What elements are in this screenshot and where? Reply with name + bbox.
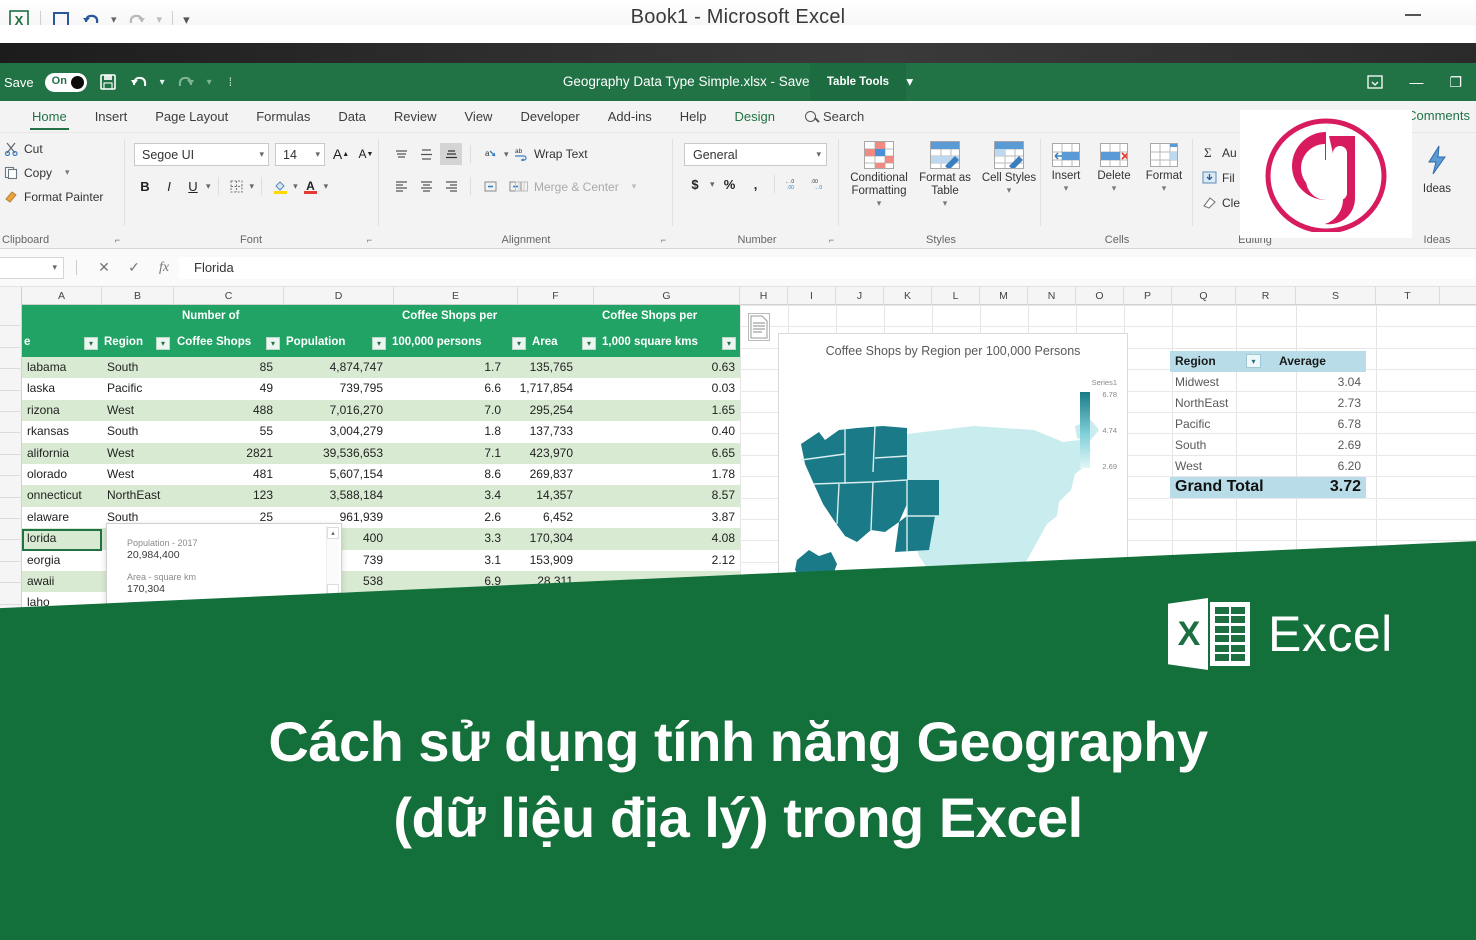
column-header-S[interactable]: S (1296, 287, 1376, 305)
table-cell-population[interactable]: 3,004,279 (278, 421, 388, 442)
table-cell-per1000km[interactable]: 1.78 (578, 464, 740, 485)
cancel-icon[interactable]: ✕ (89, 259, 119, 276)
table-cell-area[interactable]: 170,304 (506, 528, 578, 549)
table-cell-per1000km[interactable]: 6.65 (578, 443, 740, 464)
merge-center-button[interactable]: Merge & Center ▾ (514, 179, 636, 194)
table-cell-shops[interactable]: 123 (174, 485, 278, 506)
svg-text:A: A (306, 179, 315, 193)
tab-insert[interactable]: Insert (81, 105, 142, 128)
font-name-dropdown-icon[interactable]: ▾ (259, 149, 264, 160)
table-cell-state[interactable]: elaware (22, 507, 102, 528)
filter-icon-coffee-shops[interactable]: ▾ (266, 337, 280, 350)
table-cell-per100k[interactable]: 7.0 (388, 400, 506, 421)
format-painter-icon (4, 189, 19, 204)
ideas-label: Ideas (1423, 183, 1451, 196)
number-group-label: Number (676, 234, 838, 246)
fill-color-dropdown-icon[interactable]: ▾ (293, 181, 298, 192)
align-right-icon[interactable] (440, 175, 462, 197)
tab-help[interactable]: Help (666, 105, 721, 128)
pivot-row-label[interactable]: West (1170, 456, 1274, 477)
autosave-state: On (52, 75, 67, 87)
pivot-header-average: Average (1274, 351, 1366, 372)
wrap-text-button[interactable]: ab Wrap Text (514, 146, 588, 161)
excel-logo-icon: X (1168, 592, 1252, 676)
table-cell-state[interactable]: olorado (22, 464, 102, 485)
number-format-value: General (693, 148, 737, 162)
column-header-R[interactable]: R (1236, 287, 1296, 305)
conditional-formatting-icon (864, 141, 894, 169)
column-header-E[interactable]: E (394, 287, 518, 305)
gj-logo-icon (1251, 116, 1401, 232)
autosave-toggle[interactable]: On (45, 73, 87, 92)
align-left-icon[interactable] (390, 175, 412, 197)
document-name[interactable]: Geography Data Type Simple.xlsx (563, 74, 767, 89)
underline-dropdown-icon[interactable]: ▾ (206, 181, 211, 192)
table-header-row-2: e ▾ Region ▾ Coffee Shops ▾ Population ▾… (22, 331, 740, 357)
tab-page-layout[interactable]: Page Layout (141, 105, 242, 128)
copy-label: Copy (24, 166, 52, 180)
format-as-table-dropdown-icon[interactable]: ▾ (943, 198, 948, 209)
table-cell-per100k[interactable]: 3.3 (388, 528, 506, 549)
table-cell-shops[interactable]: 481 (174, 464, 278, 485)
card-label-population: Population - 2017 (127, 538, 341, 548)
column-header-F[interactable]: F (518, 287, 594, 305)
table-cell-area[interactable]: 269,837 (506, 464, 578, 485)
table-cell-region[interactable]: West (102, 443, 174, 464)
column-header-D[interactable]: D (284, 287, 394, 305)
number-format-select[interactable]: General ▾ (684, 143, 827, 166)
number-dialog-launcher[interactable]: ⌐ (829, 235, 834, 245)
orientation-dropdown-icon[interactable]: ▾ (504, 149, 509, 160)
table-cell-region[interactable]: Pacific (102, 378, 174, 399)
pivot-row-label[interactable]: South (1170, 435, 1274, 456)
table-cell-per100k[interactable]: 2.6 (388, 507, 506, 528)
clipboard-dialog-launcher[interactable]: ⌐ (115, 235, 120, 245)
font-color-dropdown-icon[interactable]: ▾ (324, 181, 329, 192)
filter-icon-area[interactable]: ▾ (582, 337, 596, 350)
borders-icon[interactable] (226, 175, 248, 197)
tab-add-ins[interactable]: Add-ins (594, 105, 666, 128)
clear-label: Cle (1222, 196, 1240, 210)
name-box[interactable]: ▾ (0, 257, 64, 279)
name-box-dropdown-icon[interactable]: ▾ (46, 262, 57, 273)
row-header[interactable] (0, 305, 22, 326)
chart-title: Coffee Shops by Region per 100,000 Perso… (779, 344, 1127, 358)
tab-formulas[interactable]: Formulas (242, 105, 324, 128)
copy-icon (4, 165, 19, 180)
pivot-row-label[interactable]: Midwest (1170, 372, 1274, 393)
align-top-icon[interactable] (390, 143, 412, 165)
delete-cells-button[interactable]: Delete ▾ (1090, 143, 1138, 194)
pivot-table-region-average[interactable]: Region ▾ Average Midwest3.04NorthEast2.7… (1170, 351, 1366, 501)
table-cell-per1000km[interactable]: 1.65 (578, 400, 740, 421)
format-cells-icon (1150, 143, 1178, 167)
table-cell-population[interactable]: 739,795 (278, 378, 388, 399)
clipboard-group-label: Clipboard (0, 234, 124, 246)
ideas-button[interactable]: Ideas (1404, 145, 1470, 196)
pivot-grand-total-label: Grand Total (1170, 477, 1274, 498)
table-cell-state[interactable]: eorgia (22, 550, 102, 571)
font-dialog-launcher[interactable]: ⌐ (367, 235, 372, 245)
table-header-number-of: Number of (182, 310, 240, 322)
merge-center-dropdown-icon[interactable]: ▾ (624, 181, 637, 192)
table-cell-region[interactable]: South (102, 421, 174, 442)
format-cells-dropdown-icon[interactable]: ▾ (1162, 183, 1167, 194)
save-status-dropdown-icon[interactable]: ▾ (906, 74, 913, 89)
table-cell-population[interactable]: 7,016,270 (278, 400, 388, 421)
column-header-O[interactable]: O (1076, 287, 1124, 305)
scissors-icon (4, 141, 19, 156)
ribbon-display-options-icon[interactable] (1367, 75, 1383, 89)
row-header[interactable] (0, 562, 22, 583)
cell-styles-dropdown-icon[interactable]: ▾ (1007, 185, 1012, 196)
table-cell-per1000km[interactable]: 0.63 (578, 357, 740, 378)
ribbon-group-cells: Insert ▾ Delete ▾ (1042, 133, 1192, 249)
decrease-indent-icon[interactable] (479, 175, 501, 197)
banner-line-1: Cách sử dụng tính năng Geography (0, 712, 1476, 772)
table-cell-shops[interactable]: 488 (174, 400, 278, 421)
save-icon[interactable] (98, 72, 118, 92)
bold-icon[interactable]: B (134, 175, 156, 197)
pivot-row-label[interactable]: Pacific (1170, 414, 1274, 435)
row-header[interactable] (0, 326, 22, 347)
undo-dropdown-icon[interactable]: ▾ (160, 77, 165, 88)
table-header-coffee-shops-per-2: Coffee Shops per (602, 310, 697, 322)
filter-icon-population[interactable]: ▾ (372, 337, 386, 350)
cells-group-label: Cells (1042, 234, 1192, 246)
autosum-label: Au (1222, 146, 1237, 160)
number-format-dropdown-icon[interactable]: ▾ (816, 149, 821, 160)
excel-logo-x: X (1178, 615, 1201, 654)
ribbon-group-clipboard: Cut Copy ▾ (0, 133, 124, 249)
column-header-Q[interactable]: Q (1172, 287, 1236, 305)
orientation-icon[interactable]: a (479, 143, 501, 165)
delete-cells-label: Delete (1097, 170, 1130, 183)
column-headers: A B C D E F G H I J K L M N O P Q R S T (0, 287, 1476, 305)
row-header[interactable] (0, 540, 22, 561)
undo-icon[interactable] (129, 73, 149, 91)
table-cell-shops[interactable]: 85 (174, 357, 278, 378)
table-cell-per1000km[interactable]: 4.08 (578, 528, 740, 549)
row-header[interactable] (0, 348, 22, 369)
table-cell-region[interactable]: West (102, 464, 174, 485)
align-center-icon[interactable] (415, 175, 437, 197)
table-cell-shops[interactable]: 55 (174, 421, 278, 442)
confirm-icon[interactable]: ✓ (119, 259, 149, 276)
table-cell-region[interactable]: West (102, 400, 174, 421)
table-header-population: Population (286, 336, 345, 348)
font-color-icon[interactable]: A (300, 175, 322, 197)
table-cell-per100k[interactable]: 3.1 (388, 550, 506, 571)
table-cell-area[interactable]: 137,733 (506, 421, 578, 442)
font-size-value: 14 (283, 148, 297, 162)
ideas-lightning-icon (1423, 145, 1451, 180)
table-cell-area[interactable]: 423,970 (506, 443, 578, 464)
insert-function-icon[interactable]: fx (149, 260, 179, 276)
fill-color-icon[interactable] (269, 175, 291, 197)
minimize-icon[interactable]: — (1409, 75, 1423, 89)
table-cell-area[interactable]: 14,357 (506, 485, 578, 506)
column-header-L[interactable]: L (932, 287, 980, 305)
toggle-knob (71, 76, 84, 89)
column-header-K[interactable]: K (884, 287, 932, 305)
table-cell-region[interactable]: NorthEast (102, 485, 174, 506)
table-cell-state[interactable]: laska (22, 378, 102, 399)
row-header[interactable] (0, 583, 22, 604)
title-separator: - (770, 74, 778, 89)
customize-qat-icon[interactable]: ⁞ (223, 75, 232, 89)
table-cell-state[interactable]: awaii (22, 571, 102, 592)
column-header-N[interactable]: N (1028, 287, 1076, 305)
column-header-I[interactable]: I (788, 287, 836, 305)
column-header-M[interactable]: M (980, 287, 1028, 305)
card-field-area: Area - square km 170,304 (127, 572, 341, 595)
svg-text:ab: ab (515, 148, 523, 155)
clear-button[interactable]: Cle (1202, 195, 1240, 210)
tab-home[interactable]: Home (18, 105, 81, 128)
table-cell-area[interactable]: 6,452 (506, 507, 578, 528)
card-value-population: 20,984,400 (127, 549, 341, 561)
column-header-B[interactable]: B (102, 287, 174, 305)
pivot-row-value[interactable]: 2.69 (1274, 435, 1366, 456)
table-cell-per1000km[interactable]: 8.57 (578, 485, 740, 506)
align-middle-icon[interactable] (415, 143, 437, 165)
copy-button[interactable]: Copy ▾ (4, 165, 103, 180)
delete-cells-dropdown-icon[interactable]: ▾ (1112, 183, 1117, 194)
column-header-G[interactable]: G (594, 287, 740, 305)
merge-center-label: Merge & Center (534, 180, 619, 194)
excel-logo-left-panel: X (1168, 598, 1208, 670)
cell-styles-label: Cell Styles (982, 172, 1036, 185)
tab-design[interactable]: Design (721, 105, 789, 128)
row-header[interactable] (0, 476, 22, 497)
quick-access-toolbar: Save On ▾ ▾ (0, 72, 232, 92)
ribbon-group-number: General ▾ $ ▾ % , ←.0.00 .00→.0 Numb (676, 133, 838, 249)
table-cell-population[interactable]: 5,607,154 (278, 464, 388, 485)
legend-tick-mid: 4.74 (1102, 426, 1117, 435)
table-cell-state[interactable]: rizona (22, 400, 102, 421)
column-header-A[interactable]: A (22, 287, 102, 305)
table-cell-per100k[interactable]: 1.8 (388, 421, 506, 442)
table-header-row-1: Number of Coffee Shops per Coffee Shops … (22, 305, 740, 331)
filter-icon-per-100k[interactable]: ▾ (512, 337, 526, 350)
row-header[interactable] (0, 369, 22, 390)
scroll-up-icon[interactable]: ▴ (327, 527, 339, 539)
excel-brand-lockup: X Excel (1168, 592, 1393, 676)
window-shadow-strip (0, 43, 1476, 65)
fill-button[interactable]: Fil (1202, 170, 1240, 185)
underline-icon[interactable]: U (182, 175, 204, 197)
table-header-per-100k: 100,000 persons (392, 336, 482, 348)
excel-titlebar: Save On ▾ ▾ (0, 63, 1476, 101)
insert-cells-label: Insert (1052, 170, 1081, 183)
search-box[interactable]: Search (789, 109, 864, 124)
select-all-corner[interactable] (0, 287, 22, 305)
format-as-table-label: Format as Table (912, 172, 978, 198)
table-cell-per100k[interactable]: 3.4 (388, 485, 506, 506)
pivot-row-value[interactable]: 2.73 (1274, 393, 1366, 414)
row-header[interactable] (0, 433, 22, 454)
format-painter-label: Format Painter (24, 190, 103, 204)
formula-bar-separator (76, 260, 77, 275)
svg-text:a: a (485, 149, 490, 158)
conditional-formatting-button[interactable]: Conditional Formatting ▾ (846, 141, 912, 209)
insert-cells-dropdown-icon[interactable]: ▾ (1064, 183, 1069, 194)
restore-icon[interactable]: ❐ (1449, 75, 1462, 89)
insert-cells-button[interactable]: Insert ▾ (1042, 143, 1090, 194)
wrap-text-icon: ab (514, 146, 529, 161)
formula-input[interactable]: Florida (179, 257, 1476, 279)
table-cell-state[interactable]: onnecticut (22, 485, 102, 506)
grow-font-icon[interactable]: A▲ (330, 143, 352, 165)
autosave-label: Save (4, 75, 34, 90)
legend-tick-low: 2.69 (1102, 462, 1117, 471)
conditional-formatting-dropdown-icon[interactable]: ▾ (877, 198, 882, 209)
contextual-tab-group-table-tools: Table Tools (810, 63, 906, 101)
table-header-per-1000km: 1,000 square kms (602, 336, 698, 348)
align-bottom-icon[interactable] (440, 143, 462, 165)
filter-icon-state[interactable]: ▾ (84, 337, 98, 350)
borders-dropdown-icon[interactable]: ▾ (250, 181, 255, 192)
font-size-dropdown-icon[interactable]: ▾ (315, 149, 320, 160)
format-cells-button[interactable]: Format ▾ (1138, 143, 1190, 194)
table-cell-per1000km[interactable]: 0.40 (578, 421, 740, 442)
currency-dropdown-icon[interactable]: ▾ (710, 179, 715, 190)
tab-data[interactable]: Data (324, 105, 379, 128)
shrink-font-icon[interactable]: A▼ (355, 143, 377, 165)
table-cell-per100k[interactable]: 7.1 (388, 443, 506, 464)
table-cell-shops[interactable]: 49 (174, 378, 278, 399)
pivot-row-value[interactable]: 6.78 (1274, 414, 1366, 435)
tab-developer[interactable]: Developer (506, 105, 593, 128)
filter-icon-per-1000km[interactable]: ▾ (722, 337, 736, 350)
font-size-input[interactable]: 14 ▾ (275, 143, 325, 166)
comma-icon[interactable]: , (745, 173, 767, 195)
table-header-region: Region (104, 336, 143, 348)
cut-button[interactable]: Cut (4, 141, 103, 156)
filter-icon-region[interactable]: ▾ (156, 337, 170, 350)
row-header[interactable] (0, 455, 22, 476)
table-cell-per100k[interactable]: 6.6 (388, 378, 506, 399)
table-cell-per100k[interactable]: 8.6 (388, 464, 506, 485)
table-cell-per1000km[interactable]: 0.03 (578, 378, 740, 399)
ribbon-group-alignment: a ▾ (382, 133, 670, 249)
worksheet-object-icon[interactable] (748, 313, 770, 341)
column-header-T[interactable]: T (1376, 287, 1440, 305)
decrease-decimal-icon[interactable]: .00→.0 (808, 173, 830, 195)
format-painter-button[interactable]: Format Painter (4, 189, 103, 204)
font-group-label: Font (126, 234, 376, 246)
row-header[interactable] (0, 498, 22, 519)
table-cell-area[interactable]: 135,765 (506, 357, 578, 378)
copy-dropdown-icon[interactable]: ▾ (57, 167, 70, 178)
currency-icon[interactable]: $ (684, 173, 706, 195)
screenshot-root: X ▾ ▾ ▾ Book1 - Microsoft Excel (0, 0, 1476, 940)
gj-logo-watermark (1240, 110, 1412, 238)
column-header-P[interactable]: P (1124, 287, 1172, 305)
tab-review[interactable]: Review (380, 105, 451, 128)
wrap-text-label: Wrap Text (534, 147, 588, 161)
autosum-button[interactable]: Σ Au (1202, 145, 1240, 160)
table-cell-per1000km[interactable]: 3.87 (578, 507, 740, 528)
pivot-filter-icon[interactable]: ▾ (1246, 354, 1261, 368)
format-as-table-icon (930, 141, 960, 169)
table-cell-population[interactable]: 3,588,184 (278, 485, 388, 506)
card-label-area: Area - square km (127, 572, 341, 582)
search-label: Search (823, 109, 864, 124)
insert-cells-icon (1052, 143, 1080, 167)
pivot-row-value[interactable]: 6.20 (1274, 456, 1366, 477)
redo-icon[interactable] (176, 73, 196, 91)
column-header-C[interactable]: C (174, 287, 284, 305)
table-cell-population[interactable]: 4,874,747 (278, 357, 388, 378)
pivot-row-value[interactable]: 3.04 (1274, 372, 1366, 393)
row-header[interactable] (0, 391, 22, 412)
selected-cell-florida[interactable] (22, 529, 102, 551)
fill-icon (1202, 170, 1217, 185)
svg-text:→.0: →.0 (813, 185, 822, 191)
table-header-coffee-shops-per-1: Coffee Shops per (402, 310, 497, 322)
table-header-state: e (24, 336, 30, 348)
background-minimize-button[interactable] (1405, 14, 1421, 16)
table-cell-population[interactable]: 39,536,653 (278, 443, 388, 464)
table-header-coffee-shops: Coffee Shops (177, 336, 251, 348)
redo-dropdown-icon[interactable]: ▾ (207, 77, 212, 88)
alignment-dialog-launcher[interactable]: ⌐ (661, 235, 666, 245)
cell-styles-button[interactable]: Cell Styles ▾ (976, 141, 1042, 196)
table-cell-region[interactable]: South (102, 357, 174, 378)
card-field-population: Population - 2017 20,984,400 (127, 538, 341, 561)
table-cell-area[interactable]: 1,717,854 (506, 378, 578, 399)
table-tools-label: Table Tools (827, 76, 889, 88)
pivot-row-label[interactable]: NorthEast (1170, 393, 1274, 414)
column-header-H[interactable]: H (740, 287, 788, 305)
row-header[interactable] (0, 412, 22, 433)
table-cell-shops[interactable]: 2821 (174, 443, 278, 464)
italic-icon[interactable]: I (158, 175, 180, 197)
window-controls: — ❐ (1367, 63, 1476, 101)
table-cell-state[interactable]: alifornia (22, 443, 102, 464)
styles-group-label: Styles (842, 234, 1040, 246)
table-cell-area[interactable]: 153,909 (506, 550, 578, 571)
font-name-input[interactable]: Segoe UI ▾ (134, 143, 269, 166)
formula-bar: ▾ ✕ ✓ fx Florida (0, 249, 1476, 287)
excel-logo-grid-panel (1210, 602, 1250, 666)
comments-button[interactable]: Comments (1407, 108, 1470, 123)
ribbon-group-font: Segoe UI ▾ 14 ▾ A▲ A▼ B I U ▾ (126, 133, 376, 249)
table-cell-state[interactable]: rkansas (22, 421, 102, 442)
table-cell-per1000km[interactable]: 2.12 (578, 550, 740, 571)
increase-decimal-icon[interactable]: ←.0.00 (782, 173, 804, 195)
table-cell-per100k[interactable]: 1.7 (388, 357, 506, 378)
legend-tick-high: 6.78 (1102, 390, 1117, 399)
autosum-icon: Σ (1202, 145, 1217, 160)
tab-view[interactable]: View (451, 105, 507, 128)
table-cell-area[interactable]: 295,254 (506, 400, 578, 421)
search-icon (805, 111, 816, 122)
column-header-J[interactable]: J (836, 287, 884, 305)
font-name-value: Segoe UI (142, 148, 194, 162)
cut-label: Cut (24, 142, 43, 156)
legend-title: Series1 (1092, 378, 1117, 387)
excel-wordmark: Excel (1268, 605, 1393, 663)
fill-label: Fil (1222, 171, 1235, 185)
table-header-area: Area (532, 336, 558, 348)
row-header[interactable] (0, 519, 22, 540)
table-cell-state[interactable]: labama (22, 357, 102, 378)
percent-icon[interactable]: % (719, 173, 741, 195)
format-as-table-button[interactable]: Format as Table ▾ (912, 141, 978, 209)
